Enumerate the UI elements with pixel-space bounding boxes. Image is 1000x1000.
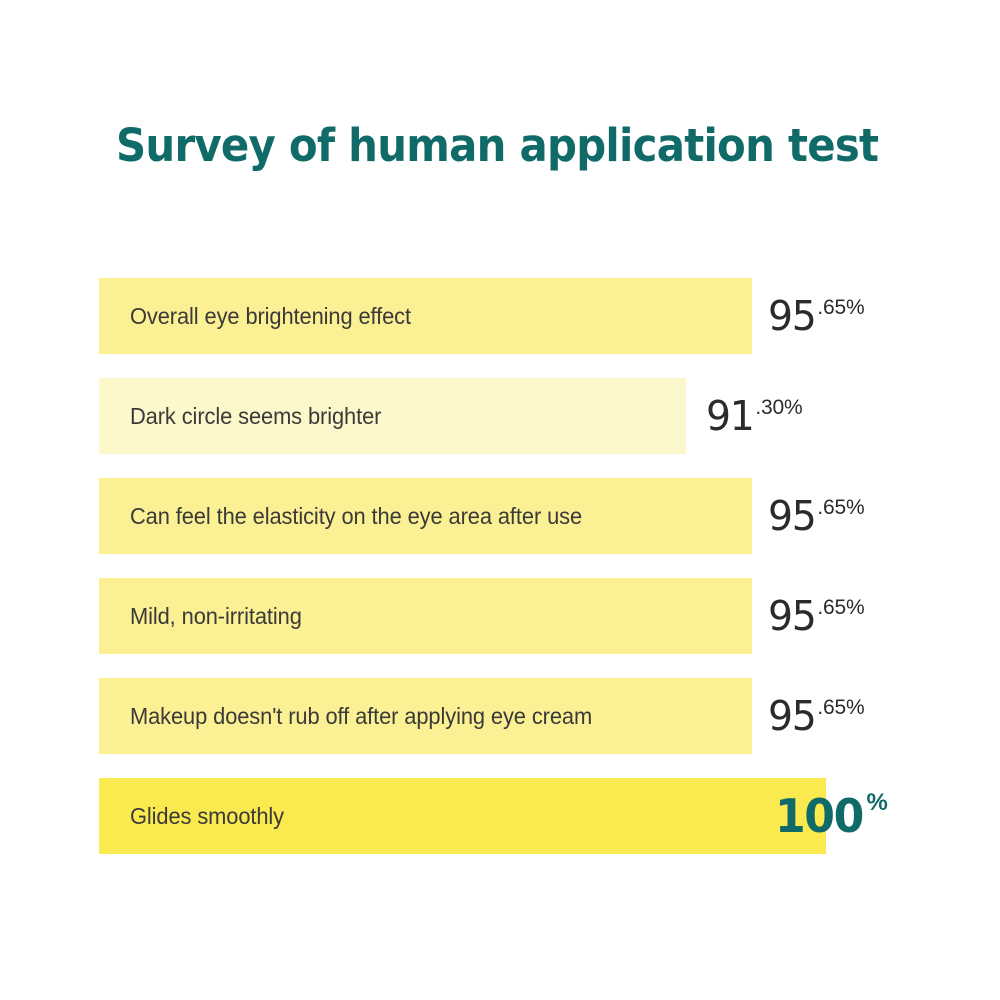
chart-row: Can feel the elasticity on the eye area … [0,478,1000,578]
survey-bar-chart: Overall eye brightening effect 95.65% Da… [0,278,1000,878]
bar-label: Glides smoothly [130,778,284,854]
bar-value: 95.65% [768,678,864,754]
bar-value-whole: 95 [768,596,815,637]
bar-value-fraction: .65% [817,697,864,718]
bar-label: Mild, non-irritating [130,578,302,654]
bar-value: 95.65% [768,278,864,354]
chart-row: Dark circle seems brighter 91.30% [0,378,1000,478]
bar-value-whole: 100 [775,793,863,839]
chart-row: Overall eye brightening effect 95.65% [0,278,1000,378]
bar-value: 91.30% [706,378,802,454]
bar-label: Can feel the elasticity on the eye area … [130,478,582,554]
bar-value: 95.65% [768,478,864,554]
bar-value-fraction: .30% [755,397,802,418]
bar-value-fraction: % [867,791,888,815]
survey-infographic: Survey of human application test Overall… [0,0,1000,1000]
bar-value-whole: 95 [768,496,815,537]
bar-value-whole: 95 [768,296,815,337]
bar-label: Makeup doesn't rub off after applying ey… [130,678,592,754]
bar-value: 95.65% [768,578,864,654]
bar-value-fraction: .65% [817,597,864,618]
chart-row: Makeup doesn't rub off after applying ey… [0,678,1000,778]
bar-value-fraction: .65% [817,497,864,518]
bar-value: 100% [775,778,888,854]
chart-row: Mild, non-irritating 95.65% [0,578,1000,678]
bar-value-fraction: .65% [817,297,864,318]
bar-value-whole: 95 [768,696,815,737]
chart-row-highlighted: Glides smoothly 100% [0,778,1000,878]
bar-label: Dark circle seems brighter [130,378,381,454]
page-title: Survey of human application test [116,122,897,171]
bar-label: Overall eye brightening effect [130,278,411,354]
bar-value-whole: 91 [706,396,753,437]
